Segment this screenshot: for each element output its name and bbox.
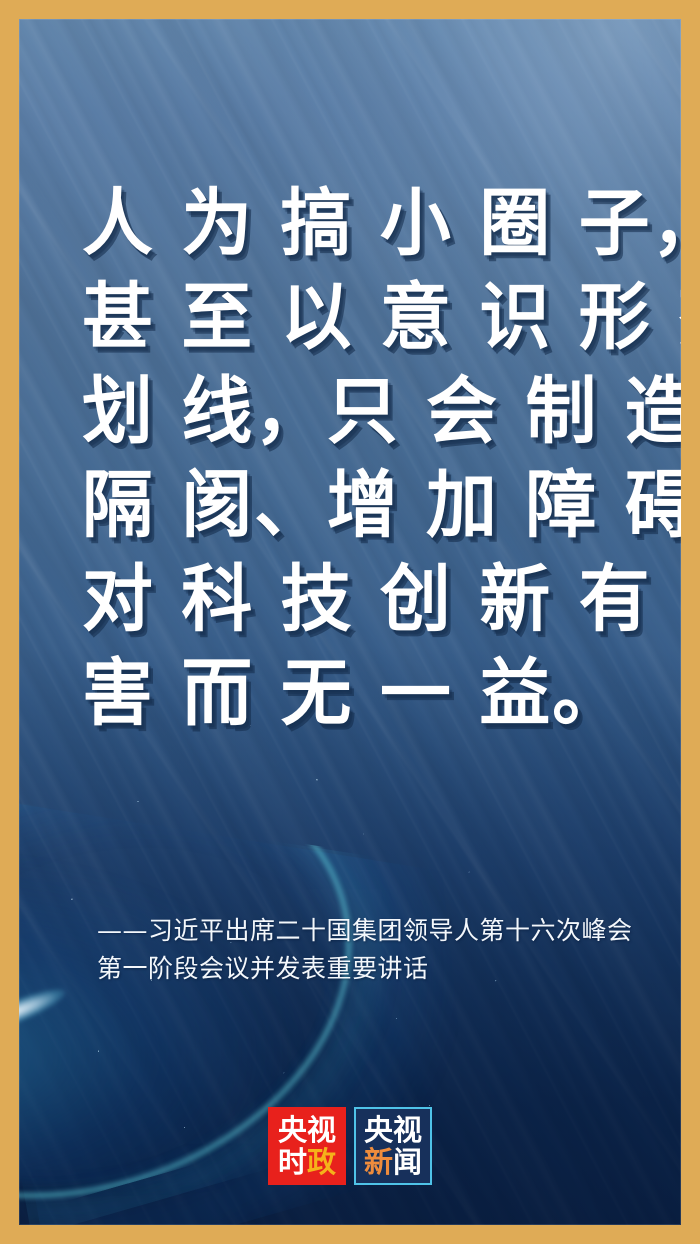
logo-row: 央 视 时 政 央 视 新 闻 — [19, 1107, 681, 1185]
headline-line: 隔 阂、增 加 障 碍， — [82, 459, 625, 553]
logo-char: 视 — [307, 1116, 336, 1145]
logo-char-accent: 政 — [307, 1148, 336, 1177]
headline-line: 划 线，只 会 制 造 — [82, 365, 625, 459]
headline-line: 害 而 无 一 益。 — [82, 647, 625, 741]
headline-line: 人 为 搞 小 圈 子， — [82, 177, 625, 271]
logo-cctv-xinwen[interactable]: 央 视 新 闻 — [354, 1107, 432, 1185]
logo-shizheng-bottom-row: 时 政 — [278, 1148, 336, 1177]
poster-root: 人 为 搞 小 圈 子， 甚 至 以 意 识 形 态 划 线，只 会 制 造 隔… — [0, 0, 700, 1244]
logo-cctv-shizheng[interactable]: 央 视 时 政 — [268, 1107, 346, 1185]
attribution-block: ——习近平出席二十国集团领导人第十六次峰会 第一阶段会议并发表重要讲话 — [97, 912, 657, 988]
logo-xinwen-bottom-row: 新 闻 — [364, 1148, 422, 1177]
logo-char: 视 — [393, 1116, 422, 1145]
logo-char: 央 — [364, 1116, 393, 1145]
logo-shizheng-top-row: 央 视 — [278, 1116, 336, 1145]
logo-char-accent: 新 — [364, 1148, 393, 1177]
headline-line: 甚 至 以 意 识 形 态 — [82, 271, 625, 365]
logo-char: 闻 — [393, 1148, 422, 1177]
logo-char: 央 — [278, 1116, 307, 1145]
attribution-line: 第一阶段会议并发表重要讲话 — [97, 950, 657, 988]
headline-line: 对 科 技 创 新 有 百 — [82, 553, 625, 647]
poster-artboard: 人 为 搞 小 圈 子， 甚 至 以 意 识 形 态 划 线，只 会 制 造 隔… — [19, 19, 681, 1225]
logo-xinwen-top-row: 央 视 — [364, 1116, 422, 1145]
headline-block: 人 为 搞 小 圈 子， 甚 至 以 意 识 形 态 划 线，只 会 制 造 隔… — [82, 177, 642, 741]
attribution-line: ——习近平出席二十国集团领导人第十六次峰会 — [97, 912, 657, 950]
logo-char: 时 — [278, 1148, 307, 1177]
